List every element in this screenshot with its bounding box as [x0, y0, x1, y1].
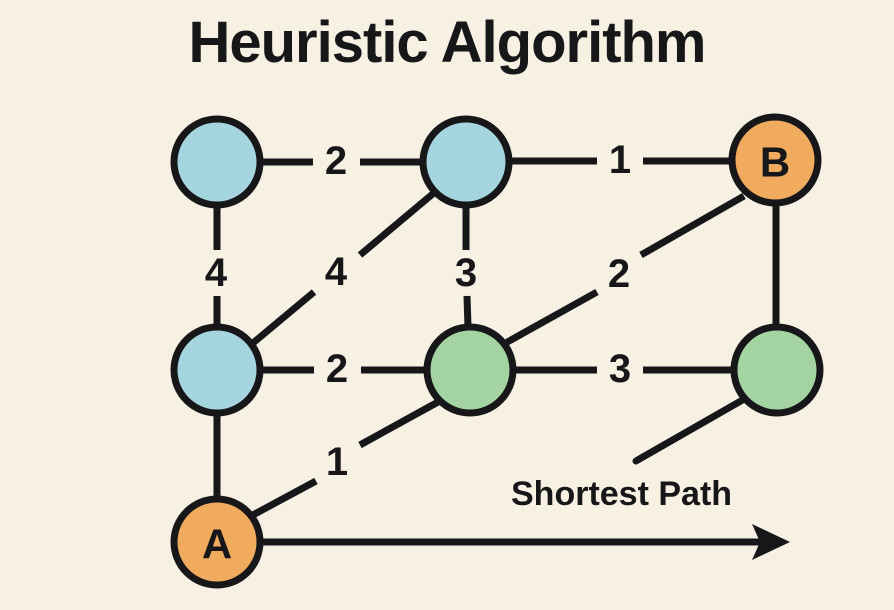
shortest-path-label: Shortest Path — [511, 475, 732, 513]
edge-n2-n5-b — [467, 296, 468, 327]
edge-weight-n1-n2: 2 — [325, 139, 347, 183]
edge-n4-n2-b — [360, 192, 435, 255]
graph-figure: Heuristic Algorithm — [0, 0, 894, 610]
edge-n5-B-b — [641, 196, 744, 255]
graph-node-n1[interactable] — [174, 119, 260, 205]
edge-weight-n5-B: 2 — [608, 252, 630, 296]
edge-weight-A-n5: 1 — [326, 440, 348, 484]
edge-A-n5-b — [360, 402, 438, 445]
edge-weight-n5-n6: 3 — [609, 347, 631, 391]
diagram-canvas: Heuristic Algorithm — [0, 0, 894, 610]
shortest-path-arrow — [260, 524, 790, 560]
page-title: Heuristic Algorithm — [188, 10, 705, 75]
graph-node-B-label: B — [760, 139, 790, 186]
edge-weight-n4-n2: 4 — [325, 250, 348, 294]
graph-node-A-label: A — [202, 521, 232, 568]
node-layer: B A — [174, 117, 820, 585]
graph-node-n2[interactable] — [423, 119, 509, 205]
edge-n4-n2 — [253, 292, 314, 343]
edge-n5-B — [502, 292, 597, 345]
edge-weight-n1-n4: 4 — [205, 251, 228, 295]
edge-weight-n2-B: 1 — [609, 138, 631, 182]
edge-weight-n2-n5: 3 — [455, 251, 477, 295]
edge-weight-n4-n5: 2 — [326, 347, 348, 391]
graph-node-n5[interactable] — [427, 327, 513, 413]
edge-A-n5 — [251, 481, 316, 516]
graph-node-n6[interactable] — [734, 327, 820, 413]
shortest-path-leader-line — [636, 398, 746, 461]
graph-node-n4[interactable] — [174, 327, 260, 413]
